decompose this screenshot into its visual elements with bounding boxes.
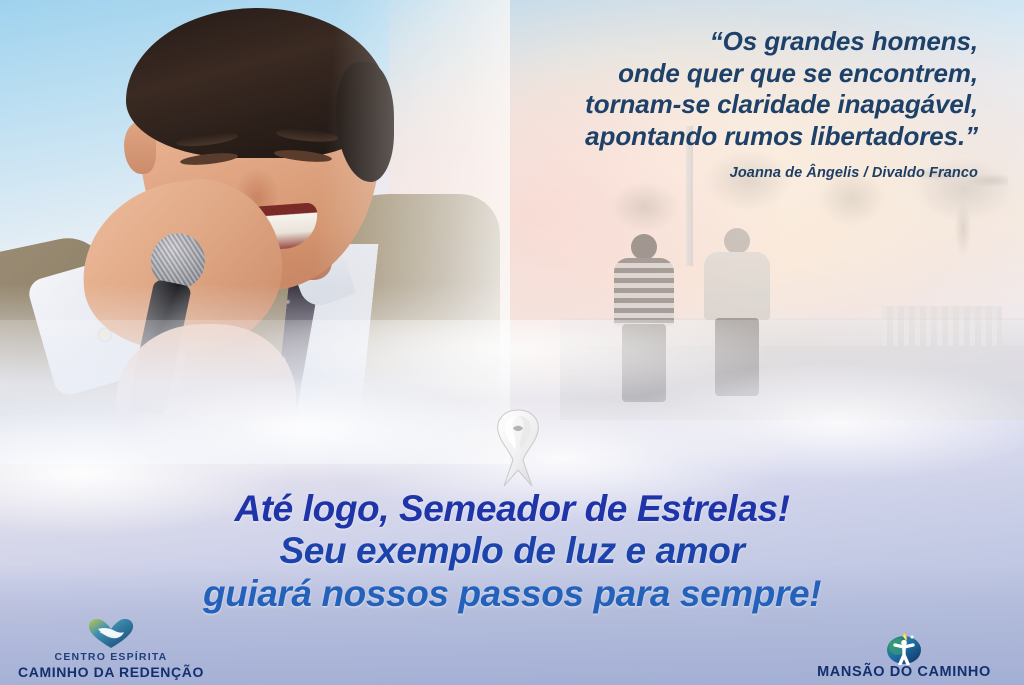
logo-mansao-do-caminho: MANSÃO DO CAMINHO xyxy=(794,628,1014,681)
globe-figure-flame-icon xyxy=(794,628,1014,664)
headline-line-1: Até logo, Semeador de Estrelas! xyxy=(0,487,1024,530)
person-head xyxy=(724,228,750,254)
quote-line-4: apontando rumos libertadores.” xyxy=(378,121,978,153)
quote-line-2: onde quer que se encontrem, xyxy=(378,58,978,90)
headline-line-3: guiará nossos passos para sempre! xyxy=(0,572,1024,615)
quote-block: “Os grandes homens, onde quer que se enc… xyxy=(378,26,978,181)
logo-centro-espirita: CENTRO ESPÍRITA CAMINHO DA REDENÇÃO xyxy=(6,615,216,681)
quote-attribution: Joanna de Ângelis / Divaldo Franco xyxy=(378,165,978,181)
quote-line-3: tornam-se claridade inapagável, xyxy=(378,89,978,121)
logo-left-line-2: CAMINHO DA REDENÇÃO xyxy=(6,664,216,681)
white-mourning-ribbon-icon xyxy=(482,404,554,490)
headline-line-2: Seu exemplo de luz e amor xyxy=(0,530,1024,572)
person-head xyxy=(631,234,657,260)
logo-right-line-1: MANSÃO DO CAMINHO xyxy=(794,664,1014,681)
memorial-poster: “Os grandes homens, onde quer que se enc… xyxy=(0,0,1024,685)
heart-hands-icon xyxy=(6,615,216,651)
logo-left-line-1: CENTRO ESPÍRITA xyxy=(6,651,216,664)
person-torso xyxy=(704,252,770,320)
person-torso xyxy=(614,258,674,326)
headline-block: Até logo, Semeador de Estrelas! Seu exem… xyxy=(0,487,1024,615)
quote-line-1: “Os grandes homens, xyxy=(378,26,978,58)
